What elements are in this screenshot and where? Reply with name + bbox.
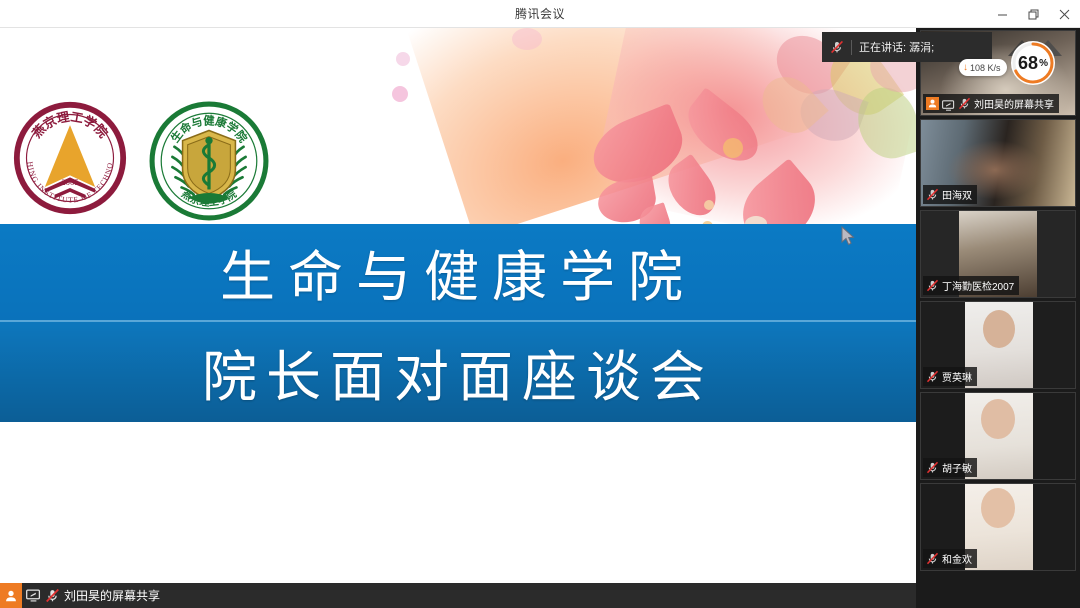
participant-name: 田海双 xyxy=(942,187,972,202)
host-person-icon xyxy=(926,97,939,110)
slide-title-line1: 生命与健康学院 xyxy=(220,232,696,312)
slide-title-band-primary: 生命与健康学院 xyxy=(0,224,916,320)
participant-name-chip: 田海双 xyxy=(923,185,977,204)
participant-tile[interactable]: 胡子敏 xyxy=(920,392,1076,480)
participant-name-chip: 刘田昊的屏幕共享 xyxy=(923,94,1059,113)
bottom-status-bar: 刘田昊的屏幕共享 xyxy=(0,583,916,608)
speaking-text: 正在讲话: 潺涓; xyxy=(859,39,934,55)
participant-sidebar[interactable]: 刘田昊的屏幕共享 田海双 丁海勤医检2007 xyxy=(916,28,1080,608)
percent-unit: % xyxy=(1039,58,1048,69)
screen-share-label: 刘田昊的屏幕共享 xyxy=(64,587,160,604)
slide-title-line2: 院长面对面座谈会 xyxy=(202,332,714,412)
mic-muted-icon xyxy=(926,370,939,383)
yanching-institute-of-technology-logo: 2005 燕京理工学院 YANCHING INSTITUTE OF TECHNO… xyxy=(12,100,128,216)
window-controls xyxy=(987,0,1080,28)
accent-dot xyxy=(396,52,410,66)
participant-face xyxy=(983,310,1015,348)
participant-name: 贾英琳 xyxy=(942,369,972,384)
mic-muted-icon xyxy=(958,97,971,110)
accent-dot xyxy=(392,86,408,102)
mic-muted-icon xyxy=(926,461,939,474)
shared-screen-stage[interactable]: 2005 燕京理工学院 YANCHING INSTITUTE OF TECHNO… xyxy=(0,28,916,583)
toast-divider xyxy=(851,40,852,55)
slide-decorative-banner: 2005 燕京理工学院 YANCHING INSTITUTE OF TECHNO… xyxy=(0,28,916,224)
tencent-meeting-window: 腾讯会议 xyxy=(0,0,1080,608)
download-arrow-icon: ↓ xyxy=(963,63,968,73)
participant-name-chip: 丁海勤医检2007 xyxy=(923,276,1019,295)
percent-value: 68 xyxy=(1018,53,1038,74)
participant-name: 刘田昊的屏幕共享 xyxy=(974,96,1054,111)
participant-name: 丁海勤医检2007 xyxy=(942,278,1014,293)
participant-face xyxy=(981,488,1015,528)
screen-share-icon xyxy=(26,589,41,602)
mic-muted-icon xyxy=(926,552,939,565)
window-title-bar: 腾讯会议 xyxy=(0,0,1080,28)
network-speed-badge: ↓ 108 K/s xyxy=(959,59,1007,76)
progress-percent-label: 68 % xyxy=(1010,40,1056,86)
participant-name-chip: 胡子敏 xyxy=(923,458,977,477)
window-title: 腾讯会议 xyxy=(515,5,565,22)
slide-footer-area xyxy=(0,422,916,583)
mic-muted-icon xyxy=(45,588,60,603)
close-button[interactable] xyxy=(1049,0,1080,28)
participant-face xyxy=(981,399,1015,439)
close-icon xyxy=(1059,9,1070,20)
accent-dot xyxy=(704,200,714,210)
screen-share-icon xyxy=(942,98,955,109)
minimize-button[interactable] xyxy=(987,0,1018,28)
participant-tile[interactable]: 田海双 xyxy=(920,119,1076,207)
mic-muted-icon xyxy=(830,40,844,54)
participant-name: 胡子敏 xyxy=(942,460,972,475)
host-person-icon xyxy=(0,583,22,608)
participant-name-chip: 和金欢 xyxy=(923,549,977,568)
screen-share-status-chip[interactable]: 刘田昊的屏幕共享 xyxy=(0,583,170,608)
mouse-cursor xyxy=(841,226,855,246)
participant-name: 和金欢 xyxy=(942,551,972,566)
accent-dot xyxy=(723,138,743,158)
mic-muted-icon xyxy=(926,188,939,201)
accent-dot xyxy=(745,216,767,224)
mic-muted-icon xyxy=(926,279,939,292)
speaking-toast: 正在讲话: 潺涓; xyxy=(822,32,992,62)
participant-name-chip: 贾英琳 xyxy=(923,367,977,386)
participant-tile[interactable]: 和金欢 xyxy=(920,483,1076,571)
accent-dot xyxy=(512,28,542,50)
presentation-slide: 2005 燕京理工学院 YANCHING INSTITUTE OF TECHNO… xyxy=(0,28,916,583)
participant-tile[interactable]: 贾英琳 xyxy=(920,301,1076,389)
slide-title-band-secondary: 院长面对面座谈会 xyxy=(0,322,916,422)
restore-icon xyxy=(1028,9,1039,20)
participant-tile[interactable]: 丁海勤医检2007 xyxy=(920,210,1076,298)
download-speed-value: 108 K/s xyxy=(970,63,1001,73)
svg-text:2005: 2005 xyxy=(61,177,78,187)
restore-button[interactable] xyxy=(1018,0,1049,28)
minimize-icon xyxy=(997,9,1008,20)
college-of-life-and-health-logo: 生命与健康学院 燕京理工学院 xyxy=(148,100,270,222)
